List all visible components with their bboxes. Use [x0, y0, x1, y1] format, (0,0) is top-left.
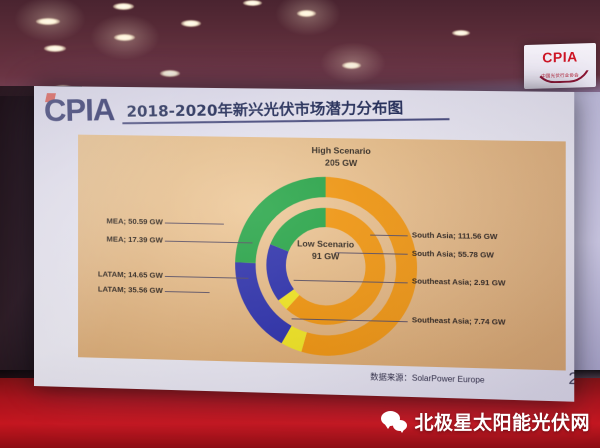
- page-title: 2018-2020年新兴光伏市场潜力分布图: [126, 97, 403, 122]
- watermark: 北极星太阳能光伏网: [381, 404, 590, 438]
- ceiling-light: [160, 70, 180, 77]
- ceiling-light: [44, 45, 66, 52]
- callout-latam-high: LATAM; 35.56 GW: [72, 284, 163, 295]
- slice-outer-southeast-asia: [287, 335, 305, 343]
- ceiling-light: [243, 0, 262, 6]
- ceiling-light: [36, 18, 60, 25]
- callout-mea-high: MEA; 50.59 GW: [78, 216, 163, 227]
- callout-south-asia-low: South Asia; 55.78 GW: [412, 249, 494, 260]
- photo-scene: CPIA 中国光伏行业协会 CPIA 2018-2020年新兴光伏市场潜力分布图…: [0, 0, 600, 448]
- callout-latam-low: LATAM; 14.65 GW: [72, 269, 163, 280]
- wechat-icon: [381, 411, 407, 431]
- slide-brand: CPIA: [44, 94, 115, 126]
- watermark-text: 北极星太阳能光伏网: [414, 408, 590, 435]
- cpia-logo: CPIA 中国光伏行业协会: [524, 43, 596, 89]
- leader-line-latam-high: [165, 291, 210, 293]
- ceiling-light: [113, 3, 134, 10]
- ceiling-light: [181, 20, 201, 27]
- low-scenario-caption: Low Scenario 91 GW: [259, 236, 393, 264]
- source-note: 数据来源：SolarPower Europe: [370, 371, 484, 385]
- ceiling-light: [297, 10, 316, 17]
- double-donut-chart: [197, 167, 455, 368]
- high-scenario-caption: High Scenario 205 GW: [259, 143, 425, 171]
- callout-south-asia-high: South Asia; 111.56 GW: [412, 230, 498, 241]
- slice-inner-southeast-asia: [286, 295, 293, 302]
- ceiling-light: [114, 34, 135, 41]
- donut-svg: [197, 167, 455, 368]
- cpia-logo-subtitle: 中国光伏行业协会: [524, 72, 596, 80]
- slide-header: CPIA 2018-2020年新兴光伏市场潜力分布图: [34, 90, 574, 139]
- callout-mea-low: MEA; 17.39 GW: [78, 234, 163, 245]
- leader-line-mea-high: [165, 223, 224, 225]
- ceiling-light: [342, 62, 361, 69]
- ceiling-light: [452, 30, 470, 36]
- projection-screen: CPIA 2018-2020年新兴光伏市场潜力分布图 High Scenario…: [34, 86, 574, 402]
- page-number: 2: [568, 369, 574, 390]
- ring-inner: [276, 217, 375, 317]
- chart-panel: High Scenario 205 GW Low Scenario 91 GW …: [78, 135, 566, 371]
